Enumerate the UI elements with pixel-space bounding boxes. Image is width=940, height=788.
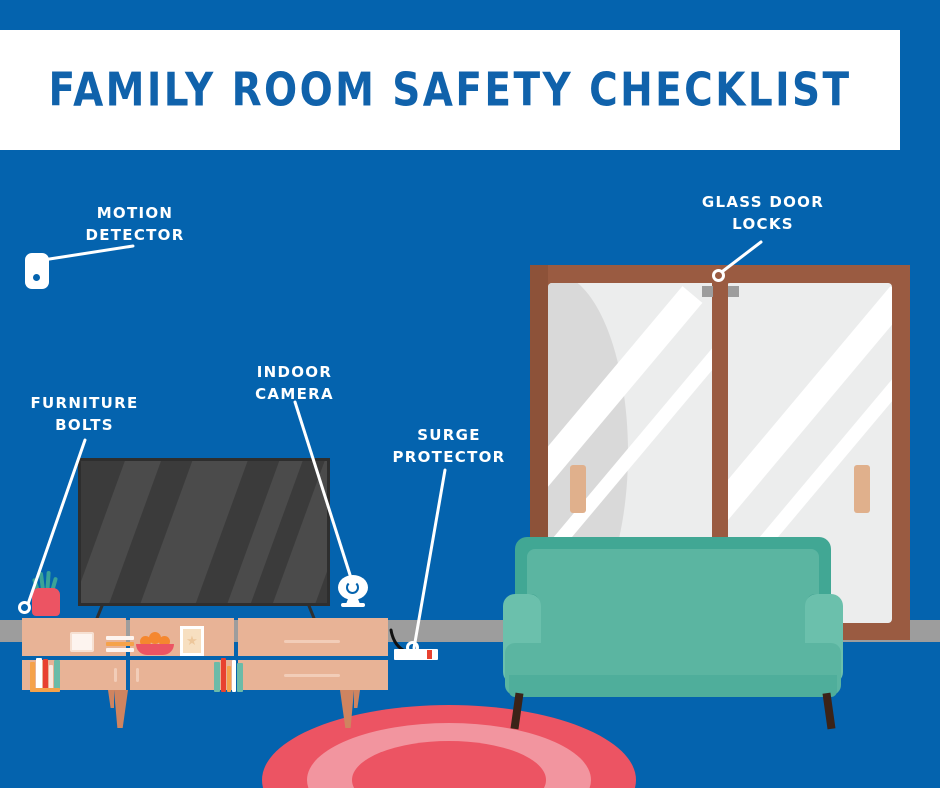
surge-protector-marker <box>406 641 419 654</box>
infographic-canvas: FAMILY ROOM SAFETY CHECKLIST <box>0 0 940 788</box>
sofa-back-cushion <box>527 549 819 649</box>
door-handle-right[interactable] <box>854 465 870 513</box>
book-9 <box>232 660 236 692</box>
door-handle-left[interactable] <box>570 465 586 513</box>
framed-picture: ★ <box>180 626 204 656</box>
door-lock-right-icon[interactable] <box>728 286 739 297</box>
camera-lens-icon <box>346 581 359 594</box>
console-leg-left-brace <box>104 690 114 708</box>
door-lock-left-icon[interactable] <box>702 286 713 297</box>
callout-motion-detector: MOTION DETECTOR <box>60 203 210 247</box>
callout-surge-protector: SURGE PROTECTOR <box>375 425 523 469</box>
flat-screen-tv[interactable] <box>78 458 330 606</box>
book-7 <box>221 658 226 692</box>
picture-star-icon: ★ <box>183 629 201 653</box>
sofa-skirt <box>509 675 837 697</box>
fruit-bowl <box>136 644 174 655</box>
media-console-cabinet: ★ <box>18 614 392 692</box>
mantel-clock <box>70 632 94 652</box>
callout-glass-door-locks: GLASS DOOR LOCKS <box>688 192 838 236</box>
drawer-handle-br <box>284 674 340 677</box>
book-10 <box>237 663 243 692</box>
drawer-handle-top <box>284 640 340 643</box>
sofa-leg-right <box>823 693 836 730</box>
page-title: FAMILY ROOM SAFETY CHECKLIST <box>0 19 900 161</box>
book-6 <box>214 662 220 692</box>
furniture-bolts-marker <box>18 601 31 614</box>
console-drawer-bottom-right[interactable] <box>238 660 388 690</box>
webcam-camera[interactable] <box>338 575 368 607</box>
stacked-book-1 <box>106 636 134 640</box>
leader-motion-detector <box>43 246 133 260</box>
motion-detector-led-icon <box>33 274 40 281</box>
glass-door-locks-marker <box>712 269 725 282</box>
console-leg-left <box>114 690 128 728</box>
callout-indoor-camera: INDOOR CAMERA <box>222 362 367 406</box>
oval-area-rug <box>262 705 636 788</box>
drawer-handle-bm <box>136 668 139 682</box>
three-seat-sofa <box>487 537 859 709</box>
callout-furniture-bolts: FURNITURE BOLTS <box>12 393 157 437</box>
stacked-book-3 <box>106 648 134 652</box>
console-drawer-top-right[interactable] <box>238 618 388 656</box>
stacked-book-2 <box>106 642 134 646</box>
drawer-handle-bl <box>114 668 117 682</box>
potted-plant-vase <box>32 588 60 616</box>
book-row-base <box>30 688 60 692</box>
book-2 <box>36 658 42 692</box>
book-8 <box>227 666 231 692</box>
power-strip-switch-icon[interactable] <box>427 650 432 659</box>
motion-detector-sensor[interactable] <box>25 253 49 289</box>
camera-base <box>341 603 365 607</box>
